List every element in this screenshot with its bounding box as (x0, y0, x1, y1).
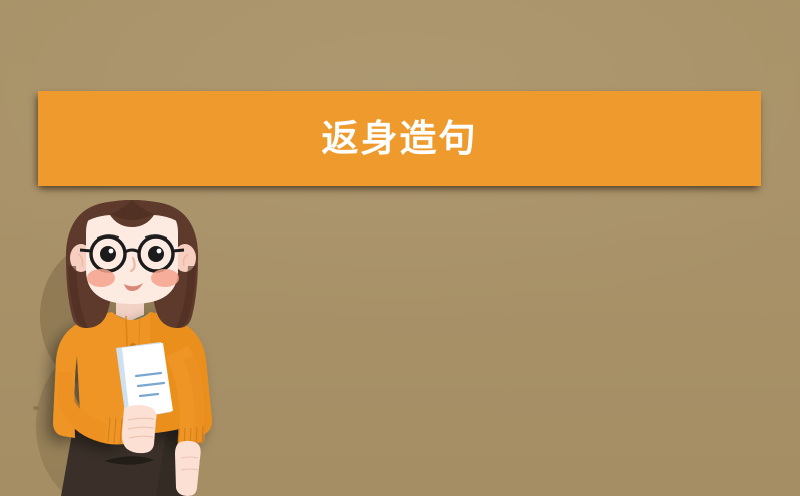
cheek-right (151, 269, 179, 287)
page-root: 返身造句 (0, 0, 800, 496)
cheek-left (87, 269, 115, 287)
title-banner: 返身造句 (38, 91, 761, 186)
page-title: 返身造句 (322, 120, 478, 157)
female-teacher-illustration (28, 196, 238, 496)
right-hand (175, 441, 201, 496)
left-hand (122, 405, 157, 453)
